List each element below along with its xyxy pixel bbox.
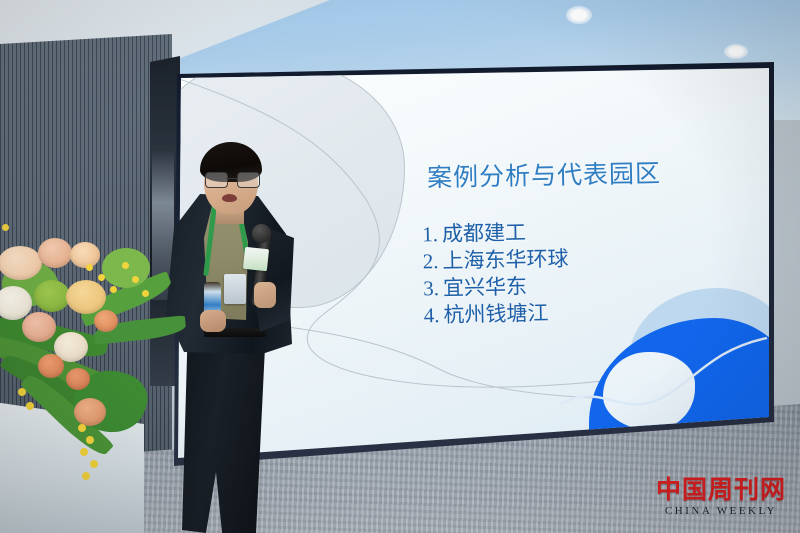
watermark-chinese: 中国周刊网 bbox=[655, 476, 787, 504]
list-item-label: 宜兴华东 bbox=[443, 274, 527, 300]
badge-icon bbox=[224, 274, 246, 304]
speaker-mouth bbox=[222, 194, 237, 202]
list-item-number: 3. bbox=[423, 276, 439, 300]
list-item-number: 2. bbox=[423, 249, 439, 273]
downlight-icon bbox=[566, 6, 592, 24]
glasses-lens-right bbox=[237, 172, 260, 188]
list-item-label: 成都建工 bbox=[442, 220, 526, 246]
list-item: 2.上海东华环球 bbox=[422, 246, 568, 276]
glasses-bridge bbox=[226, 178, 237, 179]
slide-bullet-list: 1.成都建工 2.上海东华环球 3.宜兴华东 4.杭州钱塘江 bbox=[422, 219, 570, 330]
list-item-number: 1. bbox=[422, 222, 438, 246]
list-item: 4.杭州钱塘江 bbox=[424, 300, 570, 330]
speaker-hand-right bbox=[254, 282, 276, 308]
glasses-lens-left bbox=[205, 172, 228, 188]
floral-arrangement bbox=[0, 228, 192, 478]
list-item: 1.成都建工 bbox=[422, 219, 568, 249]
list-item-label: 上海东华环球 bbox=[442, 247, 568, 273]
watermark-english: CHINA WEEKLY bbox=[655, 505, 787, 517]
list-item-number: 4. bbox=[424, 303, 440, 327]
list-item: 3.宜兴华东 bbox=[423, 273, 569, 303]
presentation-photo: 案例分析与代表园区 1.成都建工 2.上海东华环球 3.宜兴华东 4.杭州钱塘江 bbox=[0, 0, 800, 533]
speaker-hand-left bbox=[200, 310, 226, 332]
glasses-icon bbox=[204, 172, 260, 186]
microphone-flag-icon bbox=[243, 247, 269, 271]
slide-title: 案例分析与代表园区 bbox=[427, 154, 662, 194]
watermark: 中国周刊网 CHINA WEEKLY bbox=[655, 476, 787, 517]
list-item-label: 杭州钱塘江 bbox=[443, 301, 548, 327]
downlight-icon bbox=[724, 44, 748, 59]
